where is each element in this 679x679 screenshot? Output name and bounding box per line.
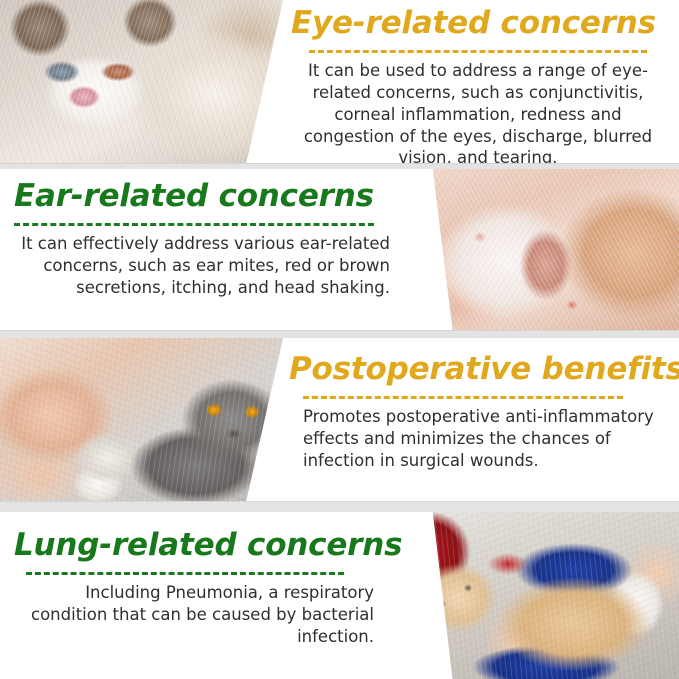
dashed-divider-lung-related — [26, 572, 344, 575]
section-postoperative-benefits: Postoperative benefits Promotes postoper… — [0, 338, 679, 501]
section-body-lung-related: Including Pneumonia, a respiratory condi… — [14, 582, 390, 648]
section-body-ear-related: It can effectively address various ear-r… — [14, 233, 390, 299]
section-title-eye-related: Eye-related concerns — [291, 6, 665, 41]
dashed-divider-postoperative — [303, 396, 623, 399]
photo-cat-sore-eye — [0, 0, 283, 163]
dashed-divider-ear-related — [14, 223, 374, 226]
text-block-eye-related: Eye-related concerns It can be used to a… — [279, 0, 679, 163]
section-lung-related-concerns: Lung-related concerns Including Pneumoni… — [0, 512, 679, 679]
section-ear-related-concerns: Ear-related concerns It can effectively … — [0, 169, 679, 330]
dashed-divider-eye-related — [309, 50, 647, 53]
benefits-infographic: Eye-related concerns It can be used to a… — [0, 0, 679, 679]
photo-cat-bandaged-paw — [0, 338, 283, 501]
photo-cat-ear-closeup — [396, 169, 679, 330]
text-block-postoperative: Postoperative benefits Promotes postoper… — [279, 338, 679, 501]
section-body-postoperative: Promotes postoperative anti-inflammatory… — [289, 406, 665, 472]
section-body-eye-related: It can be used to address a range of eye… — [291, 60, 665, 163]
text-block-ear-related: Ear-related concerns It can effectively … — [0, 169, 400, 330]
section-title-ear-related: Ear-related concerns — [14, 179, 390, 214]
section-eye-related-concerns: Eye-related concerns It can be used to a… — [0, 0, 679, 163]
section-title-postoperative: Postoperative benefits — [289, 352, 665, 387]
text-block-lung-related: Lung-related concerns Including Pneumoni… — [0, 512, 400, 679]
photo-vet-treating-cat — [396, 512, 679, 679]
section-title-lung-related: Lung-related concerns — [14, 528, 390, 563]
